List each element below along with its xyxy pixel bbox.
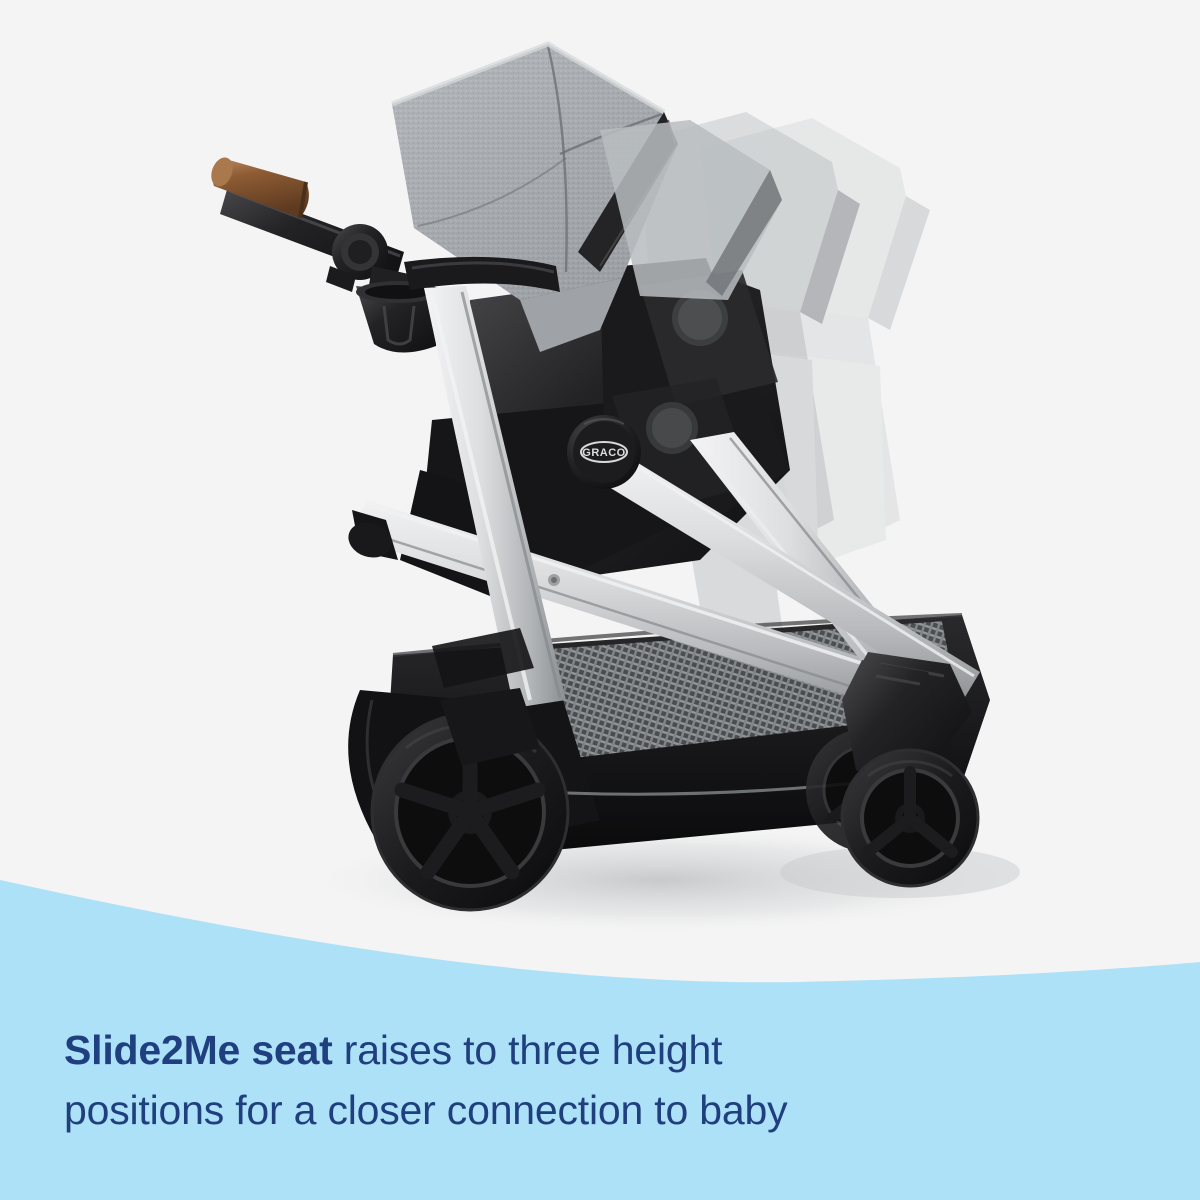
caption-bold-phrase: Slide2Me seat: [64, 1027, 333, 1073]
caption-line-1-rest: raises to three height: [333, 1027, 723, 1073]
product-feature-card: GRACO: [0, 0, 1200, 1200]
caption-line-2: positions for a closer connection to bab…: [64, 1080, 1154, 1140]
caption-line-1: Slide2Me seat raises to three height: [64, 1020, 1154, 1080]
caption-block: Slide2Me seat raises to three height pos…: [64, 1020, 1154, 1141]
